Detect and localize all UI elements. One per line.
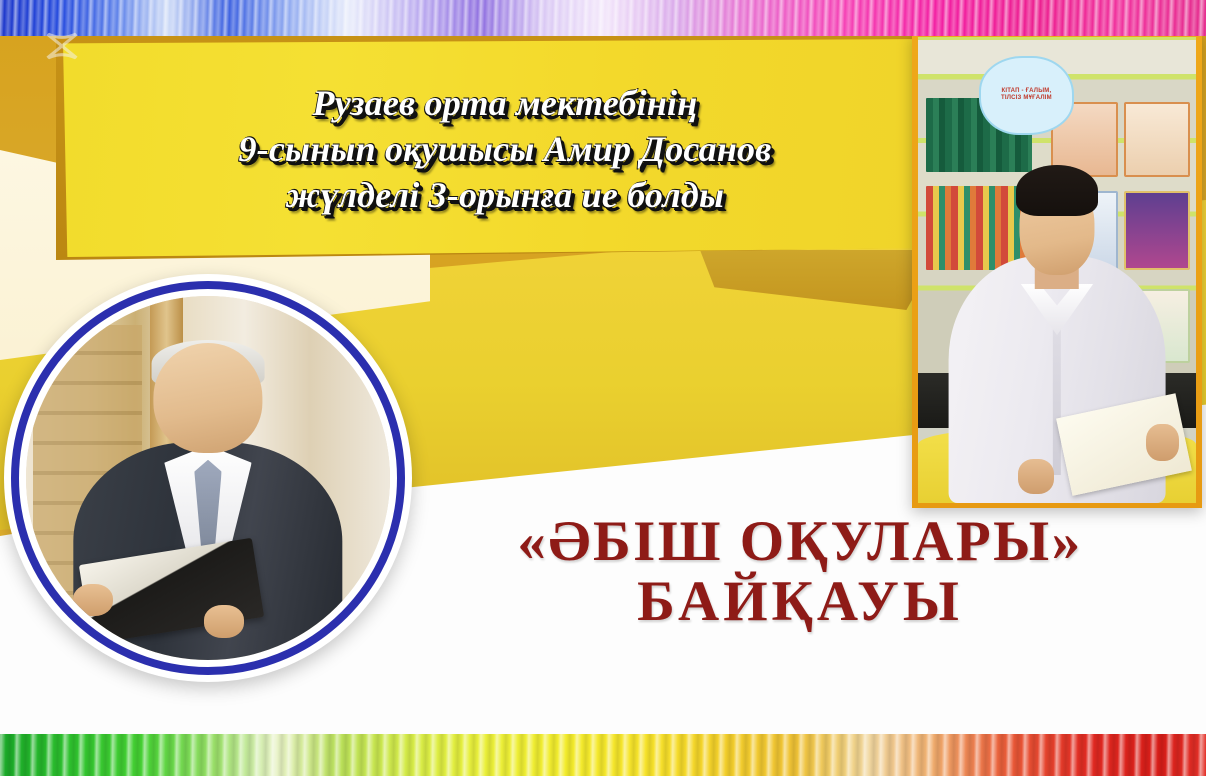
- student-right-hand: [1146, 424, 1179, 461]
- photo-shelf-box-d: [1124, 191, 1191, 270]
- bottom-rainbow-stripes: [0, 734, 1206, 776]
- library-sign-text: КІТАП - ҒАЛЫМ, ТІЛСІЗ МҰҒАЛІМ: [1001, 88, 1052, 103]
- student-hair: [1016, 165, 1098, 216]
- bottom-rainbow-border: [0, 734, 1206, 776]
- library-cloud-sign: КІТАП - ҒАЛЫМ, ТІЛСІЗ МҰҒАЛІМ: [979, 56, 1074, 135]
- top-rainbow-stripes: [0, 0, 1206, 36]
- portrait-face: [153, 343, 262, 452]
- poster-canvas: Рузаев орта мектебінің 9-сынып оқушысы А…: [0, 0, 1206, 776]
- writer-portrait-photo: [26, 296, 390, 660]
- top-rainbow-border: [0, 0, 1206, 36]
- student-left-hand: [1018, 459, 1054, 494]
- event-title-line-2: БАЙҚАУЫ: [400, 572, 1200, 632]
- photo-books-colored: [926, 186, 1026, 270]
- event-title-line-1: «ӘБІШ ОҚУЛАРЫ»: [517, 510, 1082, 573]
- portrait-left-hand: [73, 584, 113, 617]
- photo-shelf-box-b: [1124, 102, 1191, 177]
- student-photo: КІТАП - ҒАЛЫМ, ТІЛСІЗ МҰҒАЛІМ: [918, 37, 1196, 503]
- portrait-right-hand: [204, 605, 244, 638]
- headline-text: Рузаев орта мектебінің 9-сынып оқушысы А…: [120, 80, 890, 218]
- portrait-blue-ring: [11, 281, 405, 675]
- student-shirt-placket: [1053, 321, 1061, 475]
- capcut-watermark-icon: [40, 26, 84, 66]
- event-title: «ӘБІШ ОҚУЛАРЫ» БАЙҚАУЫ: [400, 512, 1200, 633]
- student-photo-frame: КІТАП - ҒАЛЫМ, ТІЛСІЗ МҰҒАЛІМ: [912, 32, 1202, 508]
- writer-portrait-frame: [4, 274, 412, 682]
